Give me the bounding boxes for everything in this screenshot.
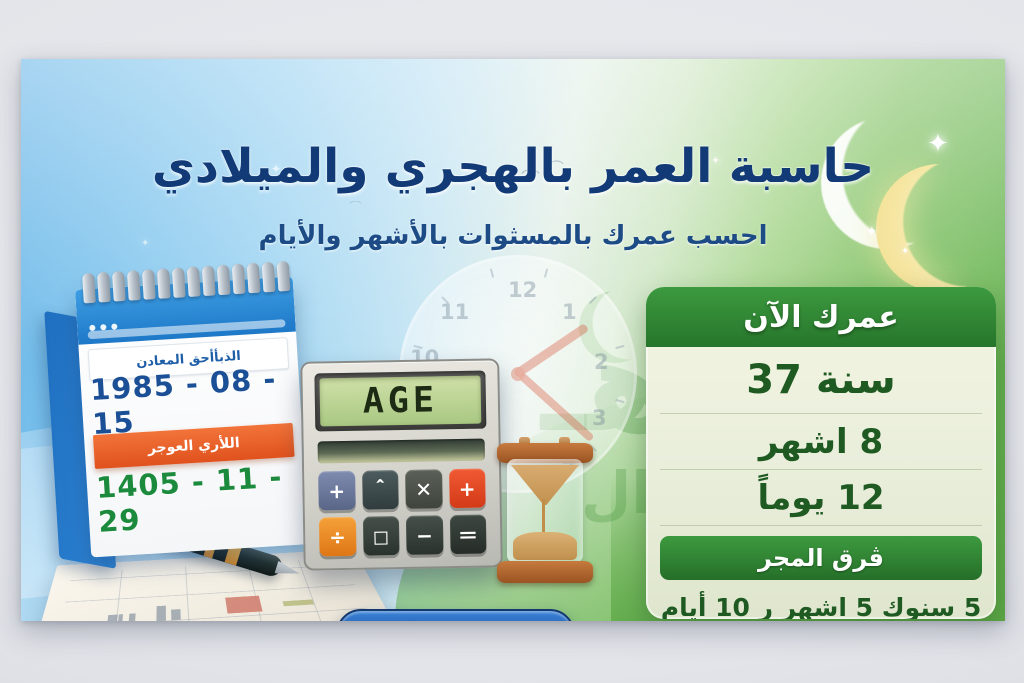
calculator-key-divide[interactable]: ÷ [319,517,356,557]
hourglass-sand-bottom [513,532,577,560]
bird-icon: ⌒ [349,197,362,216]
clock-tick [615,399,624,403]
page-subtitle: احسب عمرك بالمسثوات بالأشهر والأيام [21,221,1005,251]
calculator-screen-frame: AGE [314,371,486,432]
difference-value: 5 سنوك 5 اشهر ر 10 أيام [658,584,984,619]
clock-number-12: 12 [508,278,537,302]
clock-tick [544,268,548,277]
age-calculator-banner: ✦ ✦ ✦ ✦ ✦ ✦ ⌒ ⌒ ⌒ هـ ااال 12 1 2 3 4 6 1… [21,59,1005,621]
clock-tick [615,345,624,349]
clock-center-cap [511,367,525,381]
paper-line [59,608,367,621]
paper-barcode [107,614,118,621]
clock-number-3: 3 [592,406,607,430]
clock-number-1: 1 [562,300,577,324]
hourglass [497,437,593,583]
paper-chart-bar [283,599,315,606]
hourglass-bottom-cap [497,561,593,583]
clock-tick [589,296,597,304]
calculator-solar-strip [318,439,485,464]
calculator-key-plus-red[interactable]: + [449,469,486,509]
calculator-keypad[interactable]: + ＾ ✕ + ÷ ◻ − ＝ [318,469,486,557]
page-title: حاسبة العمر بالهجري والميلادي [21,139,1005,194]
result-panel: عمرك الآن سنة 37 8 اشهر 12 يوماً ڤرق الم… [646,287,996,619]
calculator-key-multiply[interactable]: ✕ [405,469,442,509]
paper-barcode [129,613,136,621]
paper-barcode [118,614,123,621]
paper-chart-bar [171,609,181,620]
clock-number-11: 11 [440,300,469,324]
result-months: 8 اشهر [660,414,982,470]
result-panel-header: عمرك الآن [646,287,996,347]
gregorian-date-value[interactable]: 1985 - 08 - 15 [90,373,292,429]
calculator-key-caret[interactable]: ＾ [362,470,399,510]
hourglass-sand-top [511,465,579,505]
result-days: 12 يوماً [660,470,982,526]
calculator-key-plus[interactable]: + [318,471,355,511]
paper-chart-bar [225,596,262,614]
clock-tick [490,268,494,277]
result-years: سنة 37 [660,347,982,414]
calculator-key-minus[interactable]: − [406,515,443,555]
calendar-card[interactable]: الذبأأحق المعادن 1985 - 08 - 15 اللأري ا… [75,277,309,558]
clock-hour-hand [513,323,589,379]
difference-header: ڤرق المجر [660,536,982,580]
hourglass-glass [507,459,583,563]
clock-minute-hand [518,372,595,442]
paper-chart-bar [156,606,166,621]
hijri-date-value[interactable]: 1405 - 11 - 29 [96,469,299,529]
calculator-display: AGE [319,376,481,427]
calendar-body: الذبأأحق المعادن 1985 - 08 - 15 اللأري ا… [75,277,309,558]
calculator[interactable]: AGE + ＾ ✕ + ÷ ◻ − ＝ [300,358,503,570]
calculator-key-equals[interactable]: ＝ [449,515,486,555]
calculate-now-button[interactable]: احسب الآن [336,609,575,621]
clock-number-2: 2 [594,350,609,374]
calculator-key-square[interactable]: ◻ [362,516,399,556]
